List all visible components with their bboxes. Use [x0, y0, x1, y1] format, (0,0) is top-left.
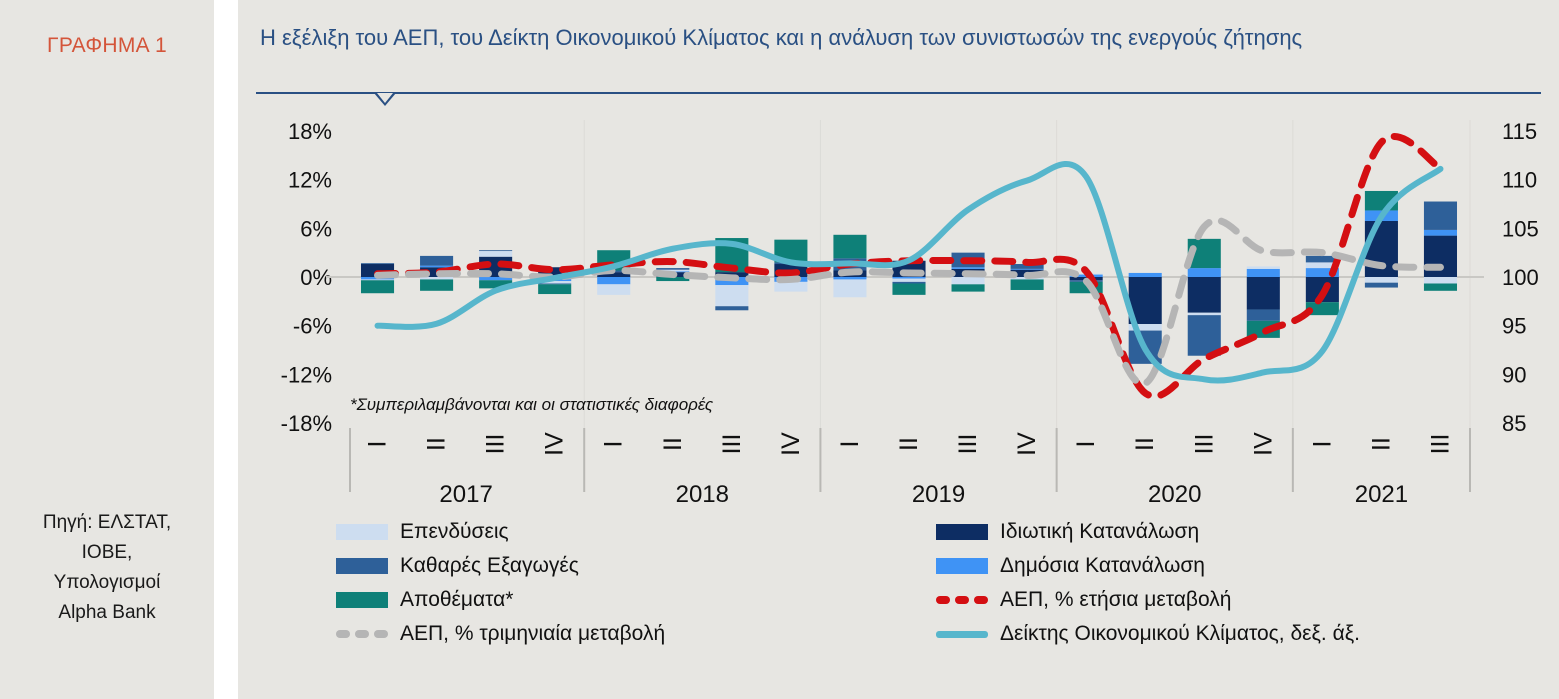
bar-segment: [420, 266, 453, 268]
bar-segment: [1188, 268, 1221, 277]
bar-segment: [1188, 313, 1221, 315]
legend-swatch-icon: [336, 592, 388, 608]
bar-segment: [952, 267, 985, 269]
bar-segment: [1011, 279, 1044, 290]
y-axis-tick-right: 95: [1502, 314, 1526, 339]
bar-segment: [420, 279, 453, 290]
legend-item-label: Αποθέματα*: [400, 588, 513, 612]
bar-segment: [361, 279, 394, 280]
bar-segment: [892, 277, 925, 279]
x-axis-year-label: 2020: [1148, 481, 1201, 508]
chart-svg: 18%12%6%0%-6%-12%-18%115110105100959085*…: [238, 0, 1559, 520]
bar-segment: [1424, 236, 1457, 277]
source-line-3: Υπολογισμοί: [10, 568, 204, 598]
y-axis-tick-left: -18%: [281, 411, 332, 436]
x-axis-quarter-label: IV: [1249, 432, 1277, 456]
bar-segment: [774, 282, 807, 292]
legend-item-label: Ιδιωτική Κατανάλωση: [1000, 520, 1199, 544]
x-axis-year-label: 2017: [439, 481, 492, 508]
bar-segment: [597, 284, 630, 295]
x-axis-quarter-label: IV: [1013, 432, 1041, 456]
bar-segment: [1365, 283, 1398, 288]
legend-item-label: Επενδύσεις: [400, 520, 509, 544]
bar-segment: [656, 268, 689, 270]
bar-segment: [892, 283, 925, 294]
bar-segment: [361, 263, 394, 264]
bar-segment: [1247, 269, 1280, 277]
bar-segment: [1424, 230, 1457, 236]
legend-item-label: ΑΕΠ, % τριμηνιαία μεταβολή: [400, 622, 665, 646]
bar-segment: [833, 277, 866, 279]
bar-segment: [1011, 269, 1044, 270]
x-axis-year-label: 2018: [676, 481, 729, 508]
figure-label: ΓΡΑΦΗΜΑ 1: [0, 34, 214, 58]
left-rail: ΓΡΑΦΗΜΑ 1 Πηγή: ΕΛΣΤΑΤ, ΙΟΒΕ, Υπολογισμο…: [0, 0, 214, 699]
legend-swatch-icon: [336, 558, 388, 574]
chart-footnote: *Συμπεριλαμβάνονται και οι στατιστικές δ…: [350, 395, 714, 414]
x-axis-quarter-label: II: [423, 437, 451, 451]
bar-segment: [1188, 277, 1221, 313]
source-line-1: Πηγή: ΕΛΣΤΑΤ,: [10, 508, 204, 538]
legend-item[interactable]: Ιδιωτική Κατανάλωση: [936, 515, 1360, 549]
x-axis-quarter-label: I: [836, 441, 864, 448]
figure-root: ΓΡΑΦΗΜΑ 1 Πηγή: ΕΛΣΤΑΤ, ΙΟΒΕ, Υπολογισμο…: [0, 0, 1559, 699]
legend-dashed-line-icon: [336, 630, 388, 638]
source-note: Πηγή: ΕΛΣΤΑΤ, ΙΟΒΕ, Υπολογισμοί Alpha Ba…: [10, 508, 204, 628]
bar-segment: [892, 279, 925, 282]
y-axis-tick-left: 6%: [300, 216, 332, 241]
series-line: [378, 220, 1441, 384]
x-axis-quarter-label: IV: [541, 432, 569, 456]
x-axis-quarter-label: III: [954, 434, 982, 455]
x-axis-quarter-label: III: [482, 434, 510, 455]
legend-swatch-icon: [336, 524, 388, 540]
bar-segment: [952, 277, 985, 284]
legend-item[interactable]: Δημόσια Κατανάλωση: [936, 549, 1360, 583]
legend-swatch-icon: [936, 558, 988, 574]
legend-column-left: ΕπενδύσειςΚαθαρές ΕξαγωγέςΑποθέματα*ΑΕΠ,…: [336, 515, 665, 651]
legend-item[interactable]: Επενδύσεις: [336, 515, 665, 549]
bar-segment: [361, 280, 394, 293]
bar-segment: [715, 285, 748, 306]
y-axis-tick-right: 115: [1502, 119, 1537, 144]
bar-segment: [479, 250, 512, 251]
bar-segment: [833, 279, 866, 297]
bar-segment: [1247, 266, 1280, 268]
y-axis-tick-left: 18%: [288, 119, 332, 144]
y-axis-tick-right: 110: [1502, 168, 1537, 193]
legend-item[interactable]: ΑΕΠ, % τριμηνιαία μεταβολή: [336, 617, 665, 651]
bar-segment: [538, 284, 571, 294]
source-line-2: ΙΟΒΕ,: [10, 538, 204, 568]
bar-segment: [1424, 202, 1457, 230]
x-axis-quarter-label: I: [364, 441, 392, 448]
x-axis-quarter-label: I: [1072, 441, 1100, 448]
bar-segment: [1129, 273, 1162, 277]
bar-segment: [1365, 277, 1398, 283]
bar-segment: [1424, 283, 1457, 290]
x-axis-year-label: 2019: [912, 481, 965, 508]
legend-item[interactable]: Καθαρές Εξαγωγές: [336, 549, 665, 583]
x-axis-quarter-label: II: [659, 437, 687, 451]
x-axis-quarter-label: I: [1308, 441, 1336, 448]
bar-segment: [952, 284, 985, 291]
bar-segment: [479, 251, 512, 257]
y-axis-tick-right: 100: [1502, 265, 1539, 290]
legend-column-right: Ιδιωτική ΚατανάλωσηΔημόσια ΚατανάλωσηΑΕΠ…: [936, 515, 1360, 651]
legend-line-icon: [936, 631, 988, 638]
chart-legend: ΕπενδύσειςΚαθαρές ΕξαγωγέςΑποθέματα*ΑΕΠ,…: [336, 515, 1551, 645]
y-axis-tick-left: 12%: [288, 168, 332, 193]
bar-segment: [1247, 277, 1280, 309]
legend-dashed-line-icon: [936, 596, 988, 604]
legend-item-label: Δημόσια Κατανάλωση: [1000, 554, 1205, 578]
legend-item[interactable]: ΑΕΠ, % ετήσια μεταβολή: [936, 583, 1360, 617]
legend-item-label: Καθαρές Εξαγωγές: [400, 554, 579, 578]
x-axis-quarter-label: III: [718, 434, 746, 455]
x-axis-quarter-label: II: [895, 437, 923, 451]
bar-segment: [892, 282, 925, 284]
bar-segment: [715, 306, 748, 310]
bar-segment: [1247, 309, 1280, 320]
legend-item[interactable]: Δείκτης Οικονομικού Κλίματος, δεξ. άξ.: [936, 617, 1360, 651]
x-axis-quarter-label: III: [1426, 434, 1454, 455]
y-axis-tick-right: 105: [1502, 216, 1539, 241]
x-axis-quarter-label: IV: [777, 432, 805, 456]
x-axis-quarter-label: I: [600, 441, 628, 448]
legend-item[interactable]: Αποθέματα*: [336, 583, 665, 617]
legend-swatch-icon: [936, 524, 988, 540]
bar-segment: [420, 256, 453, 266]
x-axis-quarter-label: III: [1190, 434, 1218, 455]
y-axis-tick-left: -12%: [281, 362, 332, 387]
x-axis-quarter-label: II: [1367, 437, 1395, 451]
y-axis-tick-right: 90: [1502, 362, 1526, 387]
source-line-4: Alpha Bank: [10, 598, 204, 628]
x-axis-year-label: 2021: [1355, 481, 1408, 508]
y-axis-tick-right: 85: [1502, 411, 1526, 436]
bar-segment: [538, 283, 571, 284]
legend-item-label: ΑΕΠ, % ετήσια μεταβολή: [1000, 588, 1231, 612]
legend-item-label: Δείκτης Οικονομικού Κλίματος, δεξ. άξ.: [1000, 622, 1360, 646]
x-axis-quarter-label: II: [1131, 437, 1159, 451]
y-axis-tick-left: -6%: [293, 314, 332, 339]
bar-segment: [597, 277, 630, 284]
chart-panel: Η εξέλιξη του ΑΕΠ, του Δείκτη Οικονομικο…: [238, 0, 1559, 699]
bar-segment: [1424, 277, 1457, 283]
bar-segment: [833, 235, 866, 259]
